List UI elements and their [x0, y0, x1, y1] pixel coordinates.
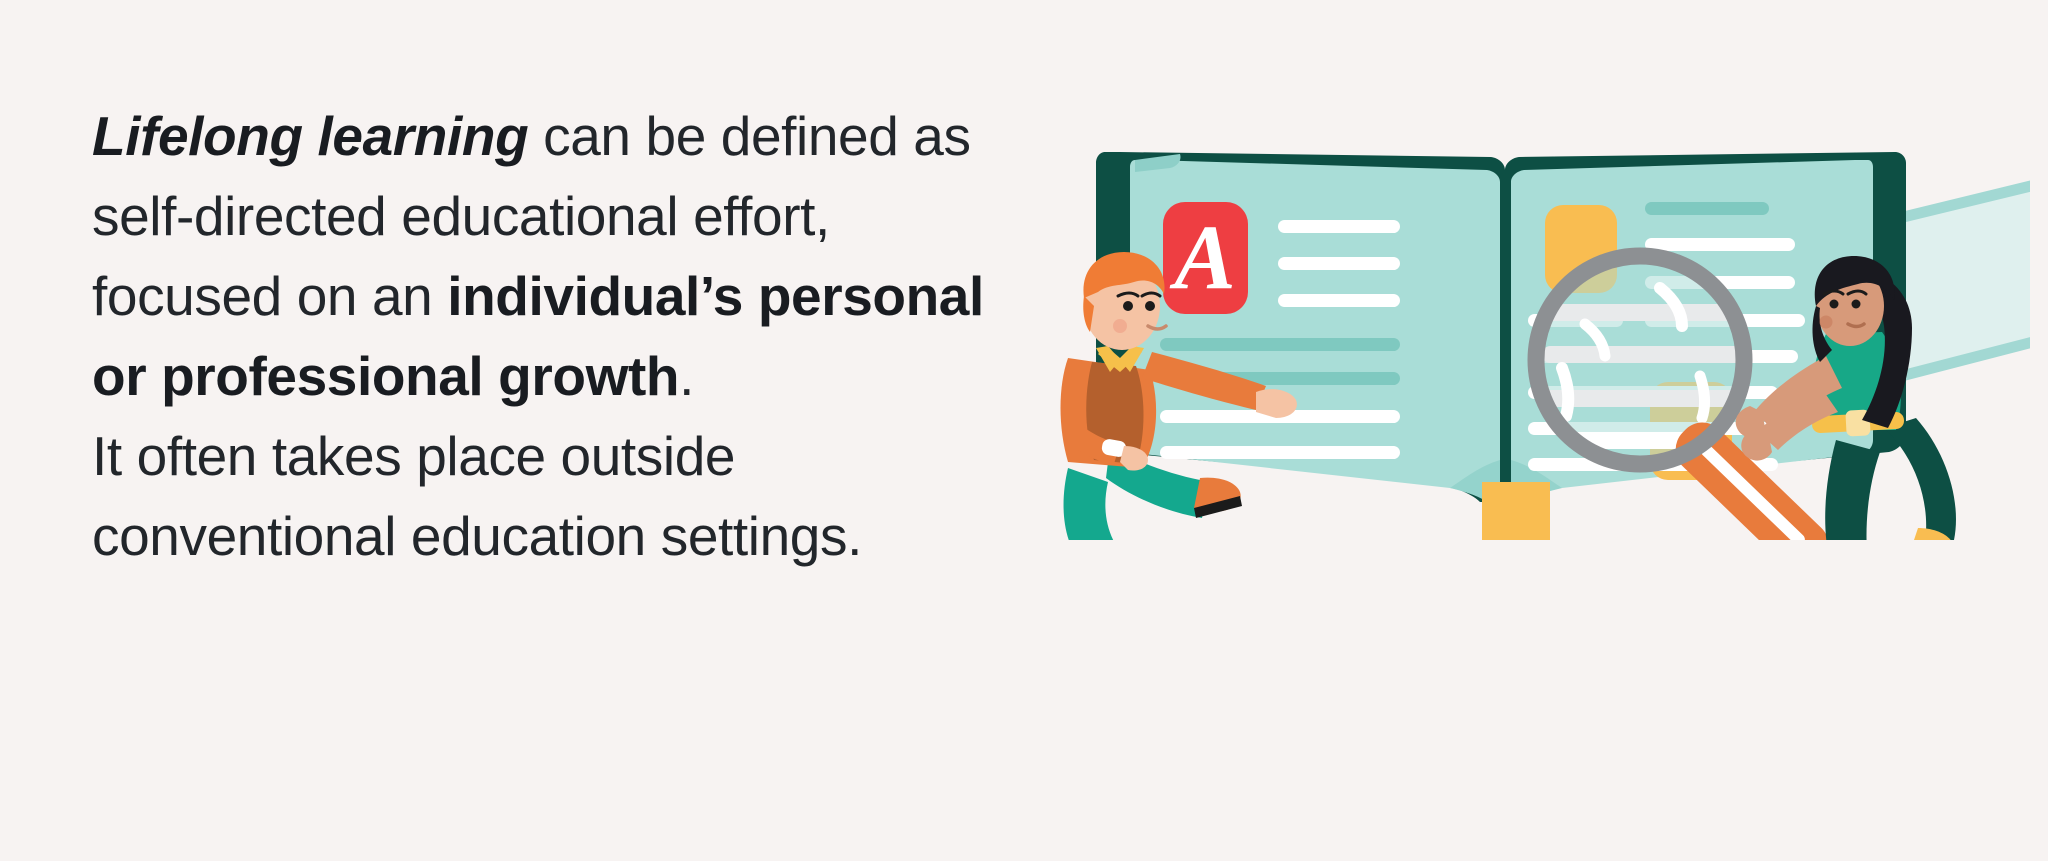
emphasis-lifelong-learning: Lifelong learning	[92, 105, 528, 167]
definition-paragraph: Lifelong learning can be defined as self…	[92, 96, 1012, 576]
text-line-6: conventional education settings.	[92, 496, 1012, 576]
infographic-canvas: Lifelong learning can be defined as self…	[0, 0, 2048, 861]
text-line-3: focused on an individual’s personal	[92, 256, 1012, 336]
emphasis-individuals-personal: individual’s personal	[447, 265, 984, 327]
text-line-6-content: conventional education settings.	[92, 505, 862, 567]
emphasis-or-professional-growth: or professional growth	[92, 345, 679, 407]
text-line-3-lead: focused on an	[92, 265, 447, 327]
text-line-2-content: self-directed educational effort,	[92, 185, 830, 247]
text-line-5: It often takes place outside	[92, 416, 1012, 496]
letter-a-badge-icon: A	[1163, 202, 1248, 314]
definition-text-block: Lifelong learning can be defined as self…	[92, 96, 1012, 576]
right-page-teal-lines-icon	[1645, 202, 1769, 215]
letter-a-glyph: A	[1169, 206, 1235, 308]
text-line-4: or professional growth.	[92, 336, 1012, 416]
text-line-1-rest: can be defined as	[528, 105, 970, 167]
text-line-1: Lifelong learning can be defined as	[92, 96, 1012, 176]
bookmark-icon	[1482, 482, 1550, 540]
text-line-4-period: .	[679, 345, 694, 407]
text-line-5-content: It often takes place outside	[92, 425, 735, 487]
open-book-illustration: A	[1050, 110, 2030, 540]
text-line-2: self-directed educational effort,	[92, 176, 1012, 256]
